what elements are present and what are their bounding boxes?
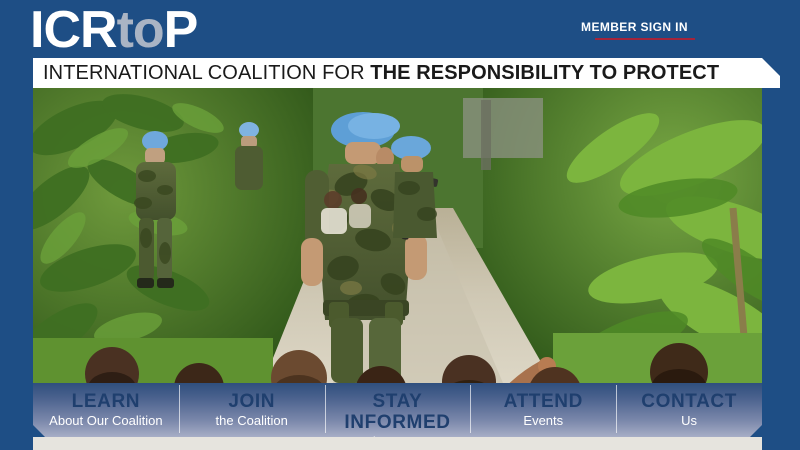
- page-root: ICRtoP MEMBER SIGN IN INTERNATIONAL COAL…: [0, 0, 800, 450]
- tagline-light-part: INTERNATIONAL COALITION FOR: [43, 62, 370, 84]
- logo-text-p: P: [164, 1, 198, 59]
- nav-title-attend: ATTEND: [470, 391, 616, 412]
- tagline-bold-part: THE RESPONSIBILITY TO PROTECT: [370, 62, 719, 84]
- logo-text-icr: ICR: [30, 1, 117, 59]
- main-navigation: LEARN About Our Coalition JOIN the Coali…: [33, 383, 762, 437]
- nav-sub-contact: Us: [616, 412, 762, 430]
- nav-item-contact[interactable]: CONTACT Us: [616, 383, 762, 437]
- nav-item-learn[interactable]: LEARN About Our Coalition: [33, 383, 179, 437]
- hero-photo: [33, 88, 762, 383]
- member-sign-in-underline: [595, 38, 695, 40]
- site-header: ICRtoP MEMBER SIGN IN INTERNATIONAL COAL…: [0, 0, 800, 88]
- nav-item-attend[interactable]: ATTEND Events: [470, 383, 616, 437]
- nav-sub-attend: Events: [470, 412, 616, 430]
- nav-title-stay-informed: STAY INFORMED: [325, 391, 471, 433]
- member-sign-in-link[interactable]: MEMBER SIGN IN: [581, 20, 688, 34]
- site-logo[interactable]: ICRtoP: [30, 4, 197, 56]
- logo-text-to: to: [117, 1, 164, 59]
- nav-item-stay-informed[interactable]: STAY INFORMED About RtoP: [325, 383, 471, 437]
- nav-item-join[interactable]: JOIN the Coalition: [179, 383, 325, 437]
- nav-sub-learn: About Our Coalition: [33, 412, 179, 430]
- nav-title-learn: LEARN: [33, 391, 179, 412]
- nav-title-contact: CONTACT: [616, 391, 762, 412]
- nav-title-join: JOIN: [179, 391, 325, 412]
- nav-sub-join: the Coalition: [179, 412, 325, 430]
- site-tagline: INTERNATIONAL COALITION FOR THE RESPONSI…: [43, 62, 719, 85]
- tagline-band: INTERNATIONAL COALITION FOR THE RESPONSI…: [33, 58, 780, 88]
- content-area-strip: [33, 437, 762, 450]
